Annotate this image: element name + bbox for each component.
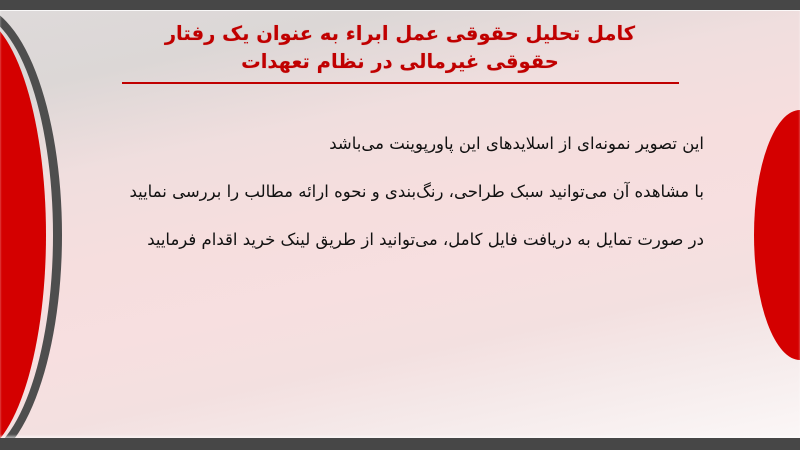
slide-top-border bbox=[0, 0, 800, 10]
body-line-1: این تصویر نمونه‌ای از اسلایدهای این پاور… bbox=[94, 130, 704, 157]
slide-bottom-border bbox=[0, 438, 800, 450]
presentation-slide: کامل تحلیل حقوقی عمل ابراء به عنوان یک ر… bbox=[0, 0, 800, 450]
body-line-2: با مشاهده آن می‌توانید سبک طراحی، رنگ‌بن… bbox=[94, 178, 704, 205]
slide-title: کامل تحلیل حقوقی عمل ابراء به عنوان یک ر… bbox=[0, 10, 800, 84]
title-underline-rule bbox=[122, 82, 679, 84]
title-line-1: کامل تحلیل حقوقی عمل ابراء به عنوان یک ر… bbox=[0, 20, 800, 48]
right-red-ellipse-decoration bbox=[754, 110, 800, 360]
title-line-2: حقوقی غیرمالی در نظام تعهدات bbox=[0, 48, 800, 76]
slide-content-panel: کامل تحلیل حقوقی عمل ابراء به عنوان یک ر… bbox=[0, 10, 800, 438]
slide-body-text: این تصویر نمونه‌ای از اسلایدهای این پاور… bbox=[94, 130, 704, 253]
body-line-3: در صورت تمایل به دریافت فایل کامل، می‌تو… bbox=[94, 226, 704, 253]
